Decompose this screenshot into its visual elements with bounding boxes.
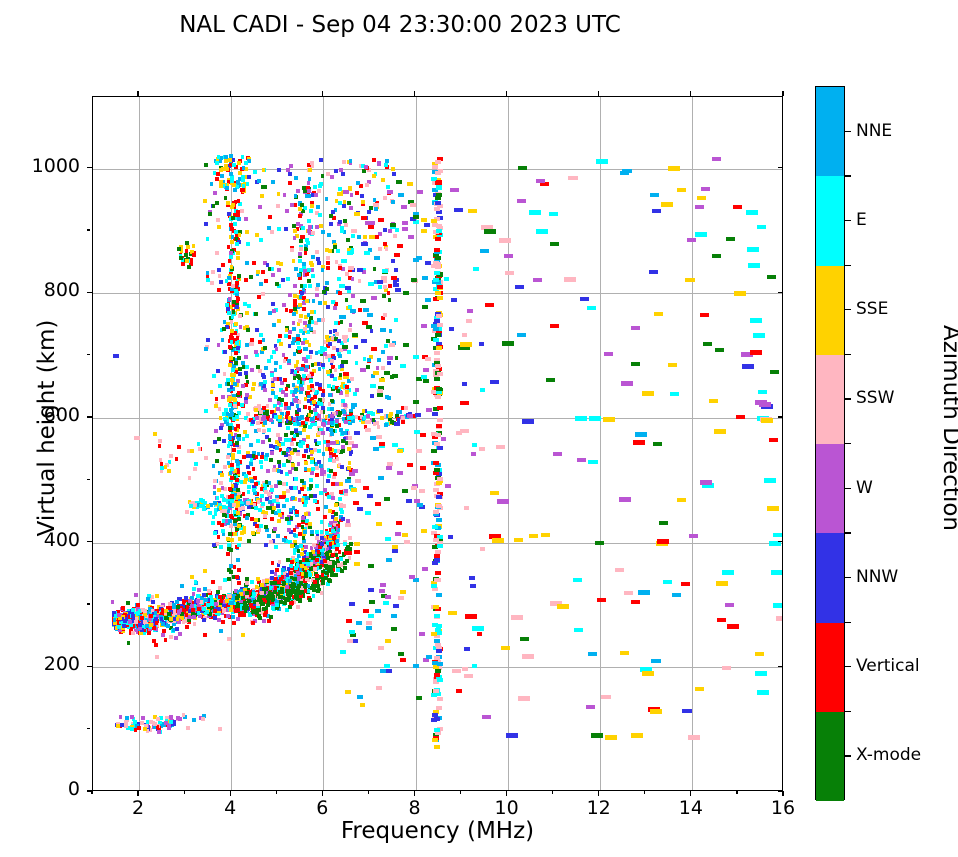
scatter-point	[364, 251, 370, 255]
scatter-point	[529, 210, 541, 215]
scatter-point	[283, 378, 287, 382]
scatter-point	[184, 596, 188, 600]
scatter-point	[262, 415, 266, 419]
scatter-point	[288, 470, 292, 474]
scatter-point	[421, 324, 427, 328]
scatter-point	[337, 192, 343, 196]
scatter-point	[603, 417, 615, 422]
scatter-point	[568, 176, 577, 180]
scatter-point	[131, 614, 135, 618]
scatter-point	[292, 327, 296, 331]
scatter-point	[298, 416, 302, 420]
scatter-point	[309, 209, 313, 213]
scatter-point	[431, 449, 437, 453]
scatter-point	[327, 495, 331, 499]
scatter-point	[223, 350, 227, 354]
scatter-point	[227, 594, 231, 598]
scatter-point	[344, 223, 348, 227]
scatter-point	[304, 500, 308, 504]
scatter-point	[339, 482, 343, 486]
scatter-point	[462, 333, 468, 337]
scatter-point	[402, 489, 408, 493]
scatter-point	[228, 345, 232, 349]
scatter-point	[294, 194, 298, 198]
scatter-point	[390, 223, 396, 227]
scatter-point	[355, 361, 359, 365]
scatter-point	[155, 655, 159, 659]
scatter-point	[201, 717, 205, 721]
scatter-point	[633, 440, 645, 445]
scatter-point	[119, 715, 123, 719]
scatter-point	[262, 338, 266, 342]
scatter-point	[323, 488, 327, 492]
scatter-point	[206, 603, 210, 607]
scatter-point	[213, 501, 217, 505]
scatter-point	[391, 276, 397, 280]
scatter-point	[272, 323, 276, 327]
scatter-point	[435, 160, 441, 164]
scatter-point	[436, 424, 442, 428]
scatter-point	[383, 228, 387, 232]
scatter-point	[522, 654, 534, 659]
scatter-point	[149, 720, 153, 724]
scatter-point	[472, 443, 478, 447]
scatter-point	[340, 226, 344, 230]
scatter-point	[302, 262, 306, 266]
scatter-point	[346, 551, 352, 555]
scatter-point	[434, 442, 440, 446]
scatter-point	[746, 210, 758, 215]
scatter-point	[431, 584, 437, 588]
scatter-point	[425, 298, 431, 302]
scatter-point	[307, 374, 311, 378]
scatter-point	[287, 521, 291, 525]
scatter-point	[688, 735, 700, 740]
scatter-point	[233, 188, 237, 192]
scatter-point	[227, 637, 231, 641]
scatter-point	[230, 538, 234, 542]
scatter-point	[309, 494, 313, 498]
scatter-point	[345, 298, 349, 302]
scatter-point	[334, 517, 338, 521]
scatter-point	[203, 199, 207, 203]
scatter-point	[392, 172, 396, 176]
scatter-point	[279, 577, 283, 581]
scatter-point	[264, 525, 268, 529]
scatter-point	[317, 441, 321, 445]
scatter-point	[266, 603, 270, 607]
scatter-point	[223, 578, 227, 582]
scatter-point	[504, 254, 513, 258]
scatter-point	[360, 194, 364, 198]
scatter-point	[235, 415, 239, 419]
scatter-point	[407, 463, 413, 467]
scatter-point	[218, 727, 222, 731]
scatter-point	[338, 220, 342, 224]
scatter-point	[247, 539, 251, 543]
scatter-point	[255, 416, 259, 420]
scatter-point	[296, 360, 300, 364]
scatter-point	[385, 639, 391, 643]
scatter-point	[232, 373, 236, 377]
scatter-point	[331, 300, 335, 304]
scatter-point	[264, 366, 268, 370]
scatter-point	[304, 206, 308, 210]
scatter-point	[206, 504, 210, 508]
scatter-point	[663, 580, 672, 584]
scatter-point	[273, 377, 277, 381]
scatter-point	[277, 192, 281, 196]
scatter-point	[230, 463, 234, 467]
scatter-point	[304, 461, 308, 465]
scatter-point	[650, 193, 659, 197]
scatter-point	[394, 318, 398, 322]
scatter-point	[287, 406, 291, 410]
scatter-point	[288, 456, 292, 460]
scatter-point	[237, 568, 241, 572]
scatter-point	[322, 452, 326, 456]
scatter-point	[169, 617, 173, 621]
scatter-point	[379, 589, 385, 593]
scatter-point	[490, 491, 499, 495]
scatter-point	[164, 721, 168, 725]
scatter-point	[326, 261, 330, 265]
scatter-point	[433, 538, 439, 542]
scatter-point	[316, 205, 320, 209]
scatter-point	[400, 364, 406, 368]
scatter-point	[396, 180, 402, 184]
scatter-point	[204, 347, 208, 351]
scatter-point	[237, 356, 241, 360]
scatter-point	[232, 575, 236, 579]
scatter-point	[347, 416, 353, 420]
scatter-point	[595, 541, 604, 545]
scatter-point	[432, 525, 438, 529]
scatter-point	[244, 474, 248, 478]
scatter-point	[254, 408, 258, 412]
scatter-point	[403, 343, 409, 347]
scatter-point	[127, 641, 131, 645]
plot-area[interactable]	[92, 96, 783, 791]
scatter-point	[441, 437, 447, 441]
scatter-point	[251, 387, 255, 391]
scatter-point	[275, 347, 279, 351]
scatter-point	[378, 247, 382, 251]
scatter-point	[321, 573, 325, 577]
scatter-point	[305, 272, 309, 276]
scatter-point	[192, 718, 196, 722]
scatter-point	[431, 632, 437, 636]
scatter-point	[237, 604, 241, 608]
scatter-point	[330, 414, 334, 418]
scatter-point	[436, 185, 442, 189]
scatter-point	[309, 261, 313, 265]
scatter-point	[345, 272, 349, 276]
scatter-point	[716, 581, 728, 586]
scatter-point	[386, 185, 390, 189]
scatter-point	[359, 184, 363, 188]
scatter-point	[387, 462, 393, 466]
scatter-point	[210, 182, 214, 186]
scatter-point	[712, 157, 721, 161]
scatter-point	[329, 469, 333, 473]
scatter-point	[290, 442, 294, 446]
scatter-point	[301, 421, 305, 425]
scatter-point	[497, 499, 509, 504]
scatter-point	[245, 591, 249, 595]
scatter-point	[280, 398, 284, 402]
scatter-point	[134, 593, 138, 597]
scatter-point	[225, 186, 229, 190]
scatter-point	[245, 581, 249, 585]
scatter-point	[496, 445, 505, 449]
scatter-point	[229, 335, 233, 339]
scatter-point	[319, 224, 323, 228]
scatter-point	[374, 207, 378, 211]
scatter-point	[319, 182, 323, 186]
scatter-point	[264, 457, 268, 461]
scatter-point	[340, 510, 344, 514]
scatter-point	[310, 384, 314, 388]
scatter-point	[700, 480, 712, 485]
scatter-point	[244, 278, 248, 282]
scatter-point	[482, 715, 491, 719]
scatter-point	[288, 181, 292, 185]
scatter-point	[407, 182, 413, 186]
scatter-point	[264, 543, 268, 547]
scatter-point	[261, 440, 265, 444]
scatter-point	[255, 328, 259, 332]
scatter-point	[228, 297, 232, 301]
scatter-point	[354, 550, 360, 554]
scatter-point	[290, 516, 294, 520]
scatter-point	[212, 543, 216, 547]
scatter-point	[326, 370, 330, 374]
scatter-point	[325, 531, 329, 535]
scatter-point	[231, 235, 235, 239]
scatter-point	[284, 334, 288, 338]
scatter-point	[436, 481, 442, 485]
scatter-point	[221, 395, 225, 399]
scatter-point	[245, 434, 249, 438]
scatter-point	[436, 504, 442, 508]
scatter-point	[413, 258, 419, 262]
scatter-point	[226, 552, 230, 556]
scatter-point	[347, 350, 351, 354]
scatter-point	[151, 600, 155, 604]
scatter-point	[246, 501, 250, 505]
scatter-point	[174, 636, 178, 640]
scatter-point	[376, 522, 382, 526]
scatter-point	[255, 233, 259, 237]
scatter-point	[282, 303, 286, 307]
scatter-point	[134, 620, 138, 624]
scatter-point	[301, 516, 305, 520]
scatter-point	[184, 253, 188, 257]
scatter-point	[365, 242, 369, 246]
scatter-point	[293, 294, 297, 298]
scatter-point	[388, 229, 392, 233]
scatter-point	[302, 428, 306, 432]
scatter-point	[417, 503, 423, 507]
scatter-point	[304, 512, 308, 516]
scatter-point	[695, 232, 707, 237]
scatter-point	[259, 410, 263, 414]
scatter-point	[364, 165, 368, 169]
scatter-point	[154, 617, 158, 621]
scatter-point	[308, 598, 312, 602]
scatter-point	[381, 178, 385, 182]
scatter-point	[286, 489, 290, 493]
scatter-point	[310, 530, 314, 534]
page-title: NAL CADI - Sep 04 23:30:00 2023 UTC	[0, 12, 800, 38]
scatter-point	[381, 350, 385, 354]
scatter-point	[284, 227, 288, 231]
scatter-point	[268, 500, 272, 504]
scatter-point	[327, 233, 331, 237]
scatter-point	[315, 293, 319, 297]
scatter-point	[309, 379, 313, 383]
scatter-point	[387, 291, 391, 295]
scatter-point	[417, 190, 423, 194]
scatter-point	[270, 576, 274, 580]
scatter-point	[342, 345, 348, 349]
scatter-point	[529, 534, 538, 538]
scatter-point	[727, 624, 739, 629]
scatter-point	[255, 585, 259, 589]
scatter-point	[377, 358, 381, 362]
scatter-point	[391, 614, 397, 618]
scatter-point	[238, 537, 242, 541]
scatter-point	[312, 388, 316, 392]
scatter-point	[332, 453, 336, 457]
scatter-point	[309, 350, 313, 354]
scatter-point	[307, 279, 311, 283]
scatter-point	[232, 448, 236, 452]
scatter-point	[241, 384, 245, 388]
scatter-point	[321, 268, 325, 272]
scatter-point	[601, 695, 610, 699]
scatter-point	[389, 329, 393, 333]
scatter-point	[234, 351, 238, 355]
scatter-point	[269, 444, 273, 448]
scatter-point	[294, 267, 298, 271]
scatter-point	[289, 571, 293, 575]
scatter-point	[233, 532, 237, 536]
scatter-point	[307, 468, 311, 472]
scatter-point	[215, 201, 219, 205]
scatter-point	[366, 621, 372, 625]
scatter-point	[387, 361, 391, 365]
scatter-point	[337, 277, 341, 281]
scatter-point	[234, 361, 238, 365]
scatter-point	[338, 411, 342, 415]
scatter-point	[315, 287, 319, 291]
scatter-point	[398, 652, 404, 656]
scatter-point	[254, 350, 258, 354]
scatter-point	[228, 259, 232, 263]
scatter-point	[333, 306, 337, 310]
scatter-point	[434, 656, 440, 660]
scatter-point	[169, 635, 173, 639]
scatter-point	[260, 455, 264, 459]
scatter-point	[231, 615, 235, 619]
scatter-point	[259, 382, 263, 386]
scatter-point	[323, 347, 327, 351]
scatter-point	[244, 400, 248, 404]
scatter-point	[753, 333, 765, 338]
scatter-point	[219, 506, 223, 510]
scatter-point	[296, 452, 300, 456]
scatter-point	[312, 588, 316, 592]
scatter-point	[301, 226, 305, 230]
scatter-point	[293, 448, 297, 452]
scatter-point	[236, 617, 240, 621]
scatter-point	[336, 389, 340, 393]
scatter-point	[221, 529, 225, 533]
scatter-point	[284, 438, 288, 442]
scatter-point	[236, 608, 240, 612]
scatter-point	[262, 429, 266, 433]
scatter-point	[362, 409, 366, 413]
scatter-point	[236, 251, 240, 255]
scatter-point	[436, 495, 442, 499]
scatter-point	[343, 566, 347, 570]
scatter-point	[407, 414, 413, 418]
scatter-point	[586, 705, 595, 709]
scatter-point	[236, 470, 240, 474]
scatter-point	[326, 266, 330, 270]
scatter-point	[161, 622, 165, 626]
scatter-point	[380, 416, 384, 420]
scatter-point	[305, 299, 309, 303]
scatter-point	[701, 187, 710, 191]
scatter-point	[436, 649, 442, 653]
scatter-point	[268, 398, 272, 402]
scatter-point	[767, 506, 779, 511]
scatter-point	[343, 561, 347, 565]
scatter-point	[252, 592, 256, 596]
scatter-point	[305, 238, 309, 242]
scatter-point	[369, 600, 375, 604]
scatter-point	[213, 491, 217, 495]
scatter-point	[311, 255, 315, 259]
scatter-point	[434, 578, 440, 582]
scatter-point	[149, 623, 153, 627]
scatter-point	[196, 594, 200, 598]
scatter-point	[338, 266, 342, 270]
scatter-point	[355, 388, 359, 392]
scatter-point	[296, 374, 300, 378]
scatter-point	[436, 346, 442, 350]
scatter-point	[251, 621, 255, 625]
scatter-point	[380, 669, 386, 673]
scatter-point	[317, 431, 321, 435]
scatter-point	[323, 352, 327, 356]
scatter-point	[287, 359, 291, 363]
scatter-point	[384, 371, 390, 375]
scatter-point	[505, 271, 514, 275]
scatter-point	[319, 565, 323, 569]
scatter-point	[376, 366, 380, 370]
scatter-point	[281, 278, 285, 282]
scatter-point	[304, 589, 308, 593]
scatter-point	[290, 248, 294, 252]
scatter-point	[111, 600, 115, 604]
scatter-point	[187, 265, 191, 269]
scatter-point	[217, 343, 221, 347]
scatter-point	[321, 393, 325, 397]
